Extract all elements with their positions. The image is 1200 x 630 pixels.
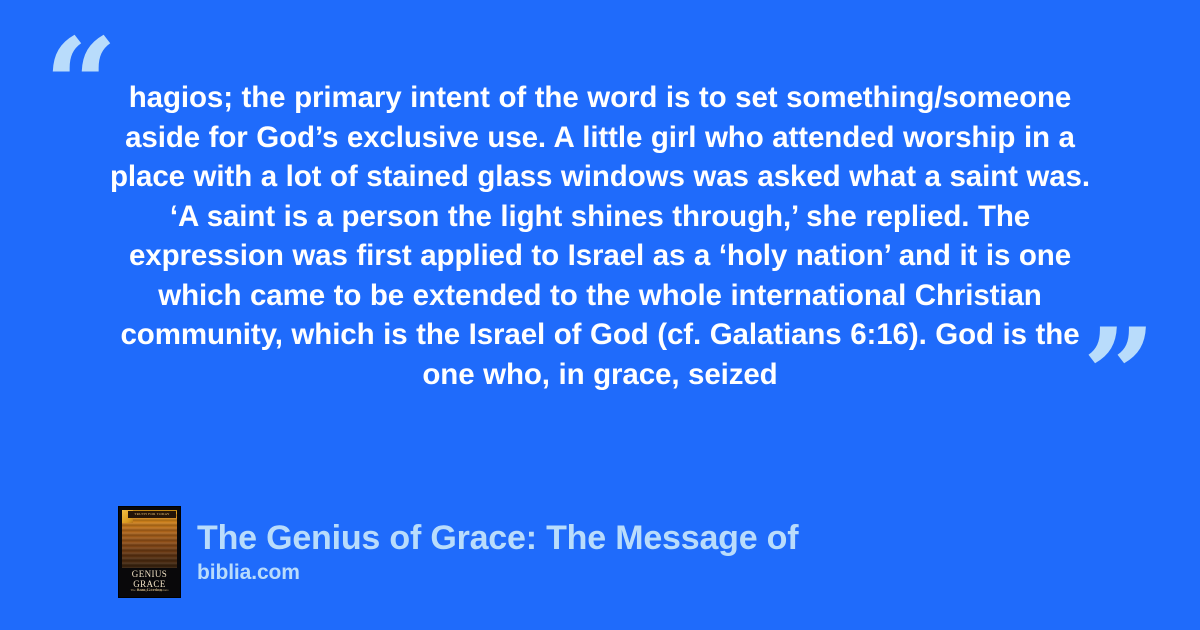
footer: TRUTH FOR TODAY GENIUS GRACE The Message… bbox=[118, 506, 798, 598]
book-cover-thumbnail: TRUTH FOR TODAY GENIUS GRACE The Message… bbox=[118, 506, 181, 598]
book-cover-banner: TRUTH FOR TODAY bbox=[128, 511, 176, 518]
close-quote-icon: ” bbox=[1082, 312, 1154, 440]
book-cover-title-line-1: GENIUS bbox=[119, 569, 180, 579]
book-cover-author: Sam Gordon bbox=[119, 587, 180, 593]
book-cover-title: GENIUS GRACE bbox=[119, 569, 180, 589]
book-cover-banner-text: TRUTH FOR TODAY bbox=[128, 511, 176, 518]
book-title: The Genius of Grace: The Message of bbox=[197, 518, 798, 558]
footer-text-block: The Genius of Grace: The Message of bibl… bbox=[197, 518, 798, 586]
source-label: biblia.com bbox=[197, 560, 798, 586]
quote-card: “ hagios; the primary intent of the word… bbox=[0, 0, 1200, 630]
quote-text: hagios; the primary intent of the word i… bbox=[100, 78, 1100, 394]
